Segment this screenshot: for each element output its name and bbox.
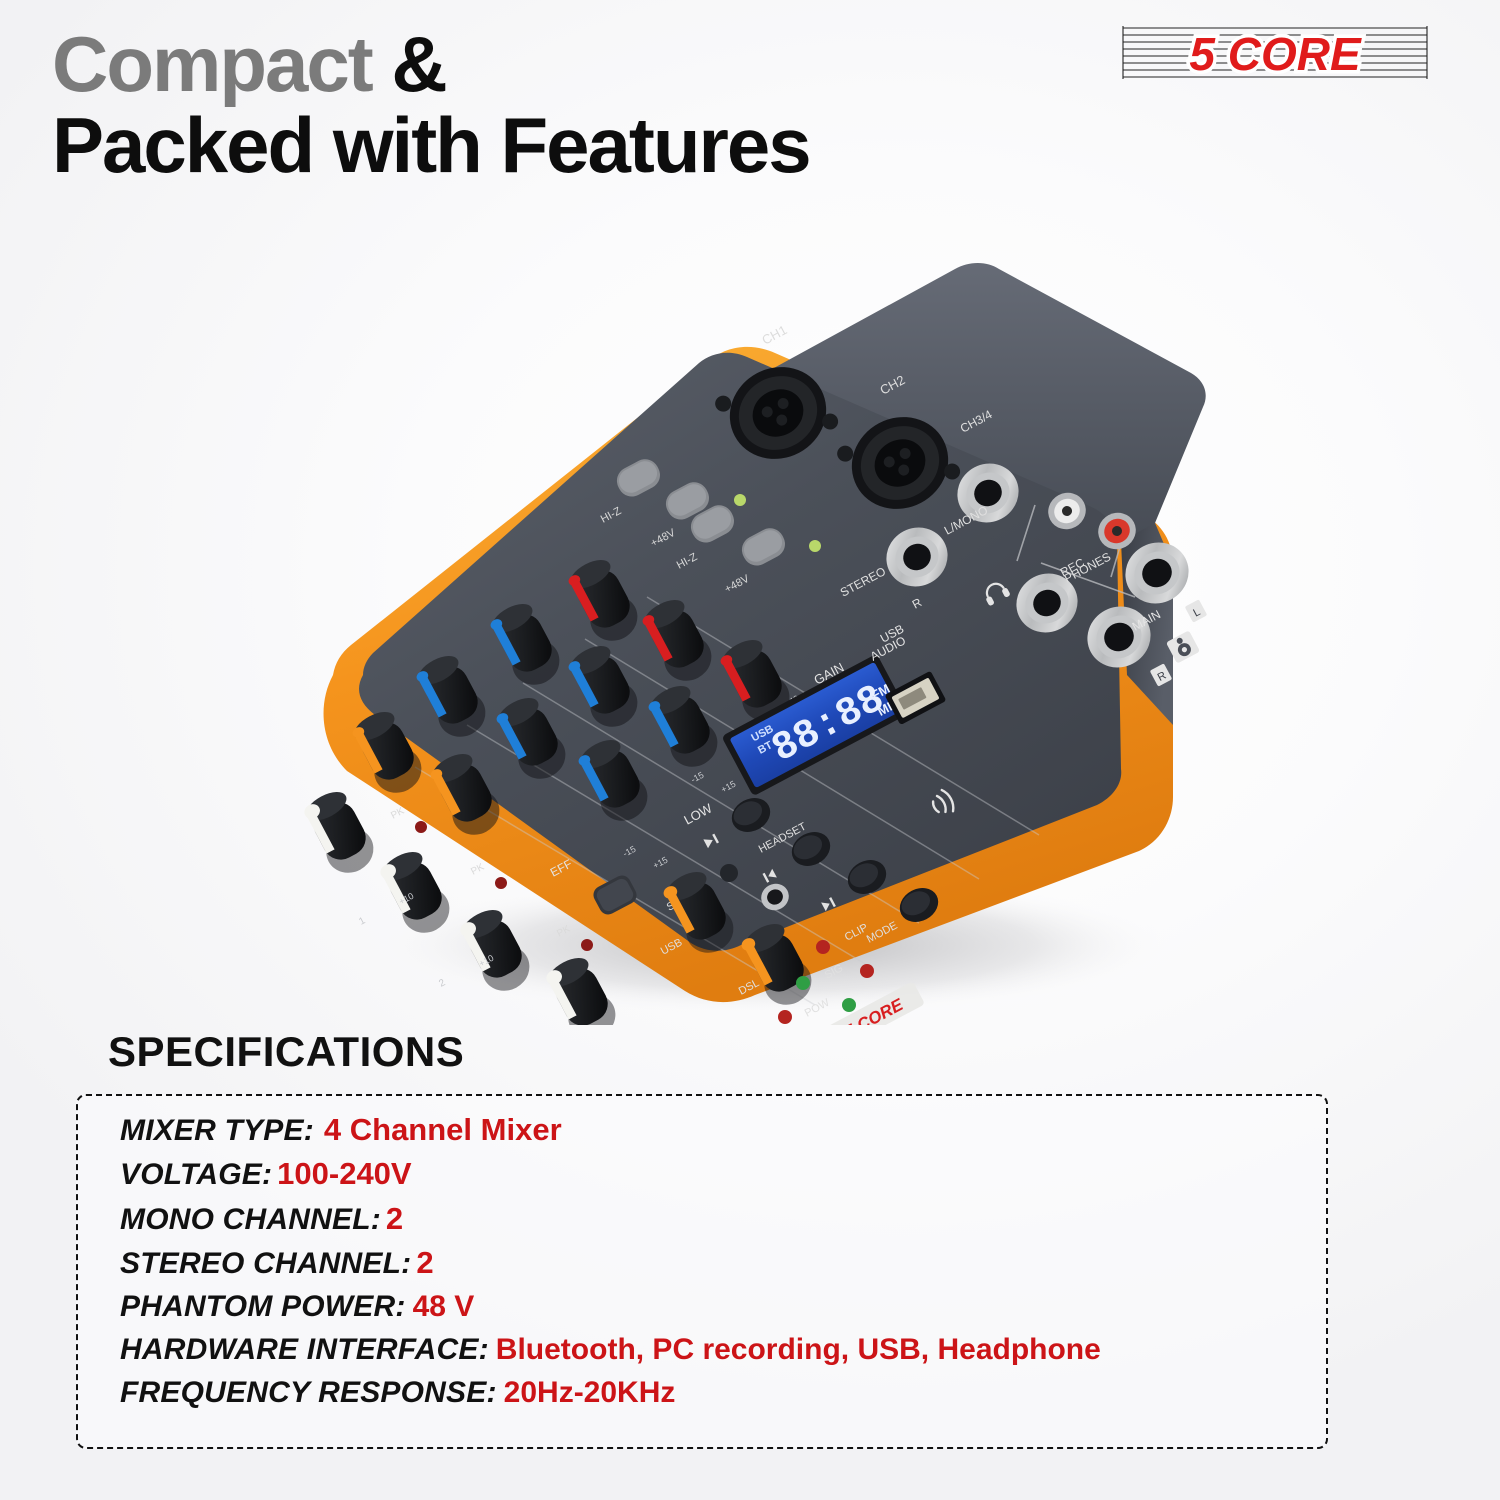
spec-value-voltage: 100-240V: [277, 1154, 411, 1194]
headline-ampersand: &: [391, 20, 445, 108]
spec-value-mono-channel: 2: [386, 1199, 403, 1239]
spec-label-frequency-response: FREQUENCY RESPONSE:: [120, 1373, 497, 1412]
headline-word-compact: Compact: [52, 20, 372, 108]
spec-value-mixer-type: 4 Channel Mixer: [324, 1110, 562, 1150]
led-pk-2: [495, 877, 507, 889]
spec-value-frequency-response: 20Hz-20KHz: [504, 1373, 676, 1412]
spec-row-mixer-type: MIXER TYPE: 4 Channel Mixer: [120, 1110, 1350, 1150]
spec-row-mono-channel: MONO CHANNEL: 2: [120, 1199, 1350, 1239]
led-pk-1: [415, 821, 427, 833]
headline-line-two: Packed with Features: [52, 109, 1052, 182]
led-pow-1: [778, 1010, 792, 1024]
spec-row-stereo-channel: STEREO CHANNEL: 2: [120, 1243, 1350, 1283]
spec-row-frequency-response: FREQUENCY RESPONSE: 20Hz-20KHz: [120, 1373, 1350, 1412]
spec-label-mixer-type: MIXER TYPE:: [120, 1111, 314, 1150]
led-sig-2: [842, 998, 856, 1012]
led-clip-1: [816, 940, 830, 954]
spec-label-mono-channel: MONO CHANNEL:: [120, 1200, 381, 1239]
brand-logo: 5 CORE: [1120, 18, 1430, 88]
spec-value-hardware-interface: Bluetooth, PC recording, USB, Headphone: [496, 1330, 1101, 1369]
phantom-led-2: [809, 540, 821, 552]
spec-row-voltage: VOLTAGE: 100-240V: [120, 1154, 1350, 1194]
jack-aux-small: [720, 864, 738, 882]
spec-label-voltage: VOLTAGE:: [120, 1155, 272, 1194]
spec-label-stereo-channel: STEREO CHANNEL:: [120, 1244, 411, 1283]
spec-value-phantom-power: 48 V: [413, 1287, 475, 1326]
scale-level-1: 1: [357, 915, 367, 928]
spec-label-phantom-power: PHANTOM POWER:: [120, 1287, 406, 1326]
specifications-title: SPECIFICATIONS: [108, 1028, 464, 1076]
spec-value-stereo-channel: 2: [416, 1243, 433, 1283]
poster-canvas: Compact & Packed with Features 5 CORE: [0, 0, 1500, 1500]
phantom-led-1: [734, 494, 746, 506]
led-sig-1: [796, 976, 810, 990]
specifications-list: MIXER TYPE: 4 Channel Mixer VOLTAGE: 100…: [120, 1110, 1350, 1416]
spec-label-hardware-interface: HARDWARE INTERFACE:: [120, 1330, 489, 1369]
product-image-mixer: CH1 CH2 HI-Z +48: [255, 205, 1265, 1025]
led-pk-3: [581, 939, 593, 951]
headline: Compact & Packed with Features: [52, 28, 1052, 181]
spec-row-phantom-power: PHANTOM POWER: 48 V: [120, 1287, 1350, 1326]
led-clip-2: [860, 964, 874, 978]
spec-row-hardware-interface: HARDWARE INTERFACE: Bluetooth, PC record…: [120, 1330, 1350, 1369]
brand-logo-text: 5 CORE: [1189, 28, 1362, 80]
